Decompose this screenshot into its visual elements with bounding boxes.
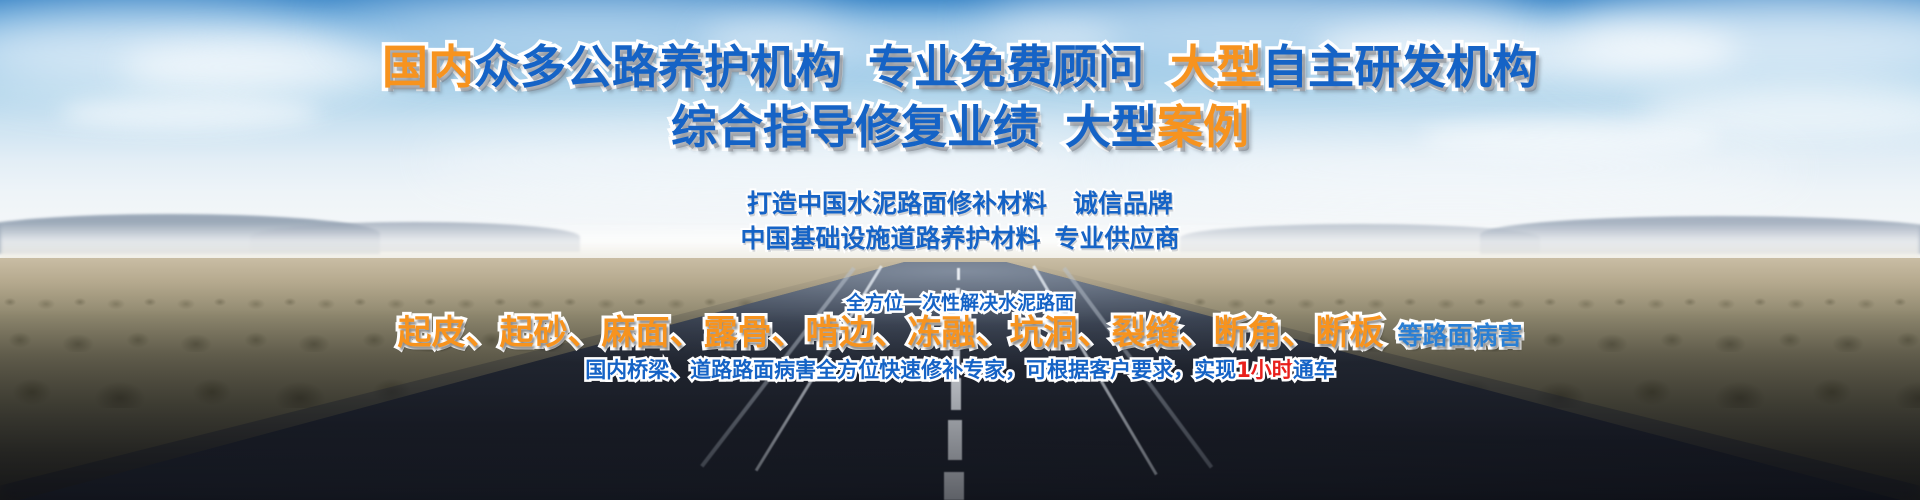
headline-l2-seg-1: 综合指导修复业绩: [671, 100, 1039, 154]
headline-line-1: 国内众多公路养护机构专业免费顾问大型自主研发机构: [0, 44, 1920, 90]
subhead-line-2: 中国基础设施道路养护材料专业供应商: [0, 226, 1920, 251]
headline-line-2: 综合指导修复业绩大型案例: [0, 104, 1920, 150]
subhead-l1-tag: 诚信品牌: [1073, 189, 1173, 218]
defects-suffix: 等路面病害: [1397, 321, 1522, 350]
subhead-line-1: 打造中国水泥路面修补材料诚信品牌: [0, 191, 1920, 216]
defects-highlight: 起皮、起砂、麻面、露骨、啃边、冻融、坑洞、裂缝、断角、断板: [397, 313, 1383, 353]
text-overlay: 国内众多公路养护机构专业免费顾问大型自主研发机构 综合指导修复业绩大型案例 打造…: [0, 0, 1920, 500]
subhead-l2-main: 中国基础设施道路养护材料: [740, 224, 1040, 253]
headline-l1-seg-1: 国内: [382, 40, 474, 94]
headline-l1-seg-5: 大型: [1170, 40, 1262, 94]
bottom-tagline: 国内桥梁、道路路面病害全方位快速修补专家，可根据客户要求，实现1小时通车: [0, 360, 1920, 381]
headline-l2-seg-3: 案例: [1157, 100, 1249, 154]
promotional-banner: 国内众多公路养护机构专业免费顾问大型自主研发机构 综合指导修复业绩大型案例 打造…: [0, 0, 1920, 500]
subhead-l2-tag: 专业供应商: [1055, 224, 1180, 253]
subhead-l1-main: 打造中国水泥路面修补材料: [747, 189, 1047, 218]
headline-l1-seg-2: 众多公路养护机构: [474, 40, 842, 94]
tagline-part-1: 国内桥梁、道路路面病害全方位快速修补专家，可根据客户要求，实现: [585, 358, 1236, 382]
tagline-part-2: 通车: [1293, 358, 1335, 382]
headline-l1-seg-3: 专业: [868, 40, 960, 94]
headline-l1-seg-6: 自主研发机构: [1262, 40, 1538, 94]
headline-l2-seg-2: 大型: [1065, 100, 1157, 154]
bottom-kicker: 全方位一次性解决水泥路面: [0, 294, 1920, 313]
bottom-defects-line: 起皮、起砂、麻面、露骨、啃边、冻融、坑洞、裂缝、断角、断板等路面病害: [0, 316, 1920, 350]
headline-l1-seg-4: 免费顾问: [960, 40, 1144, 94]
tagline-highlight: 1小时: [1236, 358, 1293, 382]
